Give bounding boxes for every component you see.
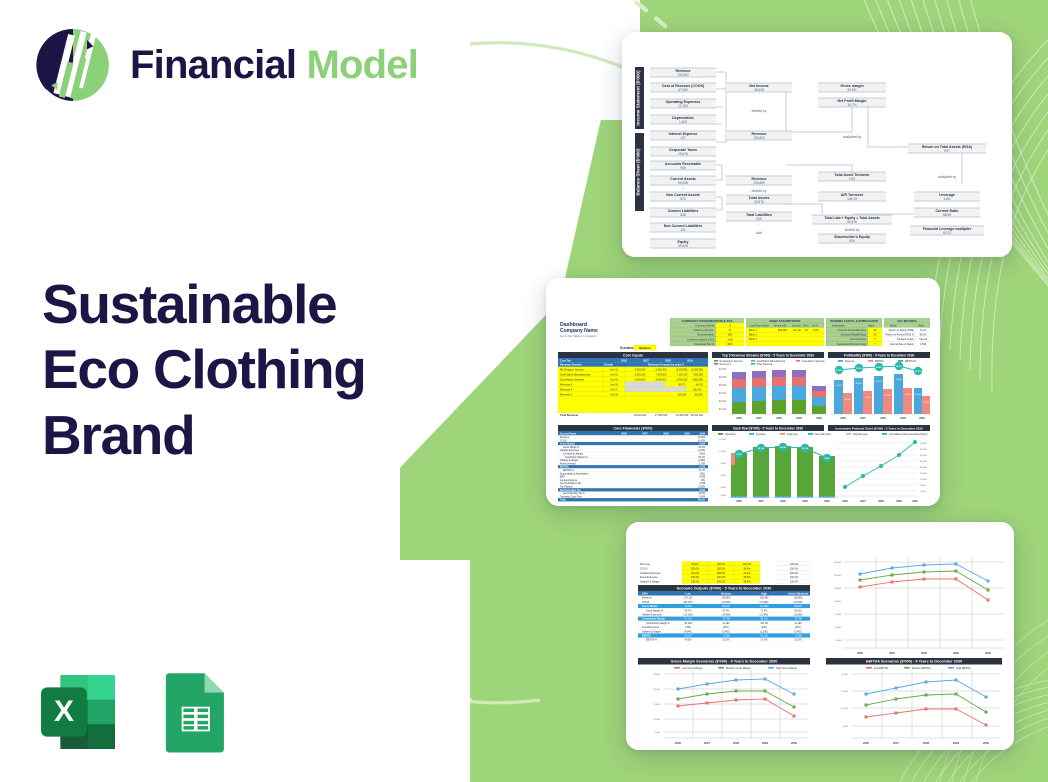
svg-text:(940): (940) [761,626,767,629]
svg-text:50,070: 50,070 [678,383,686,386]
svg-text:40,000: 40,000 [920,461,927,463]
svg-text:58.98: 58.98 [943,213,951,217]
scenario-screenshot: RevenueCOGSVariable Expenses Fixed Expen… [626,522,1014,750]
svg-text:Fixed Expenses: Fixed Expenses [642,626,660,629]
svg-text:50,576: 50,576 [847,220,857,224]
svg-text:3,944: 3,944 [699,489,705,492]
svg-text:(837): (837) [723,626,729,629]
svg-text:$1,000: $1,000 [719,409,727,411]
svg-text:2030: 2030 [985,651,991,655]
svg-text:Revenue 4: Revenue 4 [720,363,732,366]
svg-text:Growth: Growth [604,363,613,367]
svg-text:2028: 2028 [878,500,884,503]
svg-text:4,950,000: 4,950,000 [635,378,646,381]
svg-text:$6,000: $6,000 [719,377,727,379]
svg-text:Return on Assets (ROA) %: Return on Assets (ROA) % [886,334,915,337]
svg-text:100.0%: 100.0% [790,572,799,575]
svg-text:(3,400): (3,400) [722,630,730,633]
svg-text:100.0%: 100.0% [790,576,799,579]
svg-text:2030: 2030 [983,741,989,745]
svg-text:Sub 03: Sub 03 [610,378,618,381]
svg-text:Loan/Grant Name: Loan/Grant Name [749,324,769,327]
svg-text:2026: 2026 [857,651,863,655]
svg-text:105.0%: 105.0% [691,576,700,579]
svg-text:2029: 2029 [953,651,959,655]
svg-text:28,100,000: 28,100,000 [690,414,703,417]
svg-text:Unit 05: Unit 05 [610,383,618,386]
svg-text:25,000: 25,000 [653,674,660,676]
svg-text:-: - [683,109,684,113]
svg-text:5,408,100: 5,408,100 [677,378,688,381]
svg-text:$7,000: $7,000 [719,369,727,371]
svg-text:2027: 2027 [643,358,649,362]
svg-text:Active (Medium): Active (Medium) [788,591,808,595]
svg-text:156,800: 156,800 [794,597,803,600]
svg-text:2029: 2029 [687,358,693,362]
svg-text:48,191: 48,191 [698,499,706,502]
brand-wordmark: Financial Model [130,45,418,85]
svg-text:Corporate Tax %: Corporate Tax % [694,342,715,346]
svg-text:Metric: Metric [890,324,898,327]
svg-text:Operating: Operating [725,433,736,436]
svg-text:156,800: 156,800 [722,597,731,600]
svg-text:Item 01: Item 01 [610,368,619,371]
svg-text:4,000: 4,000 [721,487,727,489]
svg-text:Net Profit Before Tax: Net Profit Before Tax [560,482,582,485]
svg-text:30,000: 30,000 [834,575,841,577]
svg-text:Revenue Forecast by years 5: Revenue Forecast by years 5 [648,363,684,367]
svg-text:800: 800 [849,239,855,243]
microsoft-excel-icon[interactable]: X [34,668,122,756]
svg-text:Payback year: Payback year [853,433,868,436]
svg-text:2027: 2027 [893,741,899,745]
svg-text:Bank 1: Bank 1 [749,329,757,332]
svg-text:$3,000: $3,000 [719,393,727,395]
svg-text:Medium EBITDA: Medium EBITDA [912,667,931,670]
svg-text:1.8%: 1.8% [943,197,950,201]
svg-text:Gross Margin Scenarios ($'000): Gross Margin Scenarios ($'000) - 5 Years… [671,660,778,664]
svg-text:67,710: 67,710 [684,618,692,621]
svg-text:Scenario Outputs ($'000) - 5 Y: Scenario Outputs ($'000) - 5 Years to De… [677,586,772,590]
svg-text:75,708: 75,708 [722,618,730,621]
svg-text:8,900: 8,900 [824,458,830,460]
svg-text:100.0%: 100.0% [790,581,799,584]
svg-text:(47,800): (47,800) [722,601,731,604]
svg-text:EBITDA %: EBITDA % [646,639,658,642]
svg-text:2026: 2026 [842,500,848,503]
svg-text:95.0%: 95.0% [691,563,699,566]
svg-text:30,000: 30,000 [920,467,927,469]
svg-text:2026: 2026 [621,432,627,435]
svg-text:2027: 2027 [860,500,866,503]
svg-text:52.0%: 52.0% [795,639,803,642]
svg-text:10,000: 10,000 [841,708,848,710]
svg-text:(12,136): (12,136) [684,614,693,617]
svg-text:90,132: 90,132 [760,618,768,621]
svg-text:25,000: 25,000 [835,385,842,387]
svg-text:90.0%: 90.0% [743,572,751,575]
svg-text:20,000: 20,000 [915,394,922,396]
svg-text:Small Batch Manufacturing: Small Batch Manufacturing [560,373,590,376]
svg-text:91,130: 91,130 [760,635,768,638]
svg-text:Term: Term [803,324,809,327]
svg-text:multiplied by: multiplied by [938,175,957,179]
svg-text:22,300: 22,300 [780,447,787,449]
svg-text:2029: 2029 [953,741,959,745]
svg-text:18,700: 18,700 [758,448,765,450]
svg-text:multiplied by: multiplied by [843,135,862,139]
svg-text:Total Revenue: Total Revenue [560,413,579,417]
slide-canvas: Financial Model Sustainable Eco Clothing… [0,0,1048,782]
svg-text:-: - [683,78,684,82]
svg-text:Amount ($): Amount ($) [774,324,787,327]
svg-text:2026: 2026 [863,741,869,745]
svg-text:2027: 2027 [889,651,895,655]
svg-text:24,100: 24,100 [802,447,809,450]
svg-text:15,000: 15,000 [834,614,841,616]
svg-text:Variable Expenses: Variable Expenses [640,572,661,575]
svg-text:848: 848 [680,213,686,217]
svg-text:2030: 2030 [912,500,918,503]
svg-text:105.0%: 105.0% [691,567,700,570]
svg-text:(780): (780) [685,626,691,629]
google-sheets-icon[interactable] [150,668,238,756]
svg-text:Balance Sheet ($'000): Balance Sheet ($'000) [636,148,641,196]
svg-text:Interest Expense: Interest Expense [560,479,578,482]
svg-text:Unit 09: Unit 09 [610,393,618,396]
svg-text:7,083,000: 7,083,000 [656,373,667,376]
svg-text:40.2%: 40.2% [685,639,693,642]
svg-text:Assumption: Assumption [832,324,846,327]
svg-text:2027: 2027 [642,432,648,435]
svg-text:96.1%: 96.1% [920,334,928,337]
svg-text:Revenue: Revenue [845,360,855,363]
svg-text:17,000: 17,000 [884,395,891,397]
svg-text:55.0%: 55.0% [896,366,902,368]
svg-text:300,000: 300,000 [694,393,703,396]
svg-text:5,982,300: 5,982,300 [656,368,667,371]
svg-text:EBITDA Scenarios ($'000) - 5 Y: EBITDA Scenarios ($'000) - 5 Years to De… [866,660,962,664]
svg-text:48,196: 48,196 [684,622,692,625]
svg-text:Income Statement ($'000): Income Statement ($'000) [636,70,641,126]
financial-dashboard-card[interactable]: Dashboard Company Name Go to the Table o… [546,278,940,506]
svg-text:2027: 2027 [860,417,866,420]
svg-text:+: + [682,186,684,190]
svg-text:Low Gross Margin: Low Gross Margin [682,667,703,670]
svg-text:50,576: 50,576 [754,200,764,204]
svg-text:1,000: 1,000 [920,491,926,493]
svg-text:divided by: divided by [752,189,767,193]
svg-text:63.6%: 63.6% [847,88,856,92]
svg-text:Contribution Margin: Contribution Margin [642,618,665,621]
svg-text:127: 127 [680,136,686,140]
svg-text:10,000: 10,000 [653,719,660,721]
svg-text:18,000: 18,000 [904,394,911,396]
brand-word-model: Model [307,43,419,87]
svg-text:52.0%: 52.0% [836,370,842,372]
svg-text:divided by: divided by [845,228,860,232]
svg-text:Core Inputs: Core Inputs [623,353,643,357]
svg-text:100.0%: 100.0% [717,581,726,584]
svg-text:7,190,100: 7,190,100 [677,373,688,376]
svg-text:100.0%: 100.0% [790,567,799,570]
svg-text:Revenue 4: Revenue 4 [560,383,573,386]
svg-text:(4,840): (4,840) [684,630,692,633]
svg-text:Re-Designer Services: Re-Designer Services [560,368,585,371]
svg-text:Go to the Table of Contents: Go to the Table of Contents [560,334,597,338]
svg-text:2028: 2028 [780,500,786,503]
brand-logo[interactable]: Financial Model [34,26,418,104]
dashboard-screenshot: Dashboard Company Name Go to the Table o… [546,278,940,506]
svg-text:Denomination: Denomination [697,333,714,337]
svg-text:71,508: 71,508 [794,635,802,638]
svg-text:EBITDA %: EBITDA % [563,469,574,472]
svg-text:110.0%: 110.0% [743,563,752,566]
svg-text:88,600: 88,600 [794,605,802,608]
svg-text:17,800,000: 17,800,000 [655,414,668,417]
svg-text:2026: 2026 [840,417,846,420]
svg-text:Internal Rate of Return: Internal Rate of Return [890,343,915,346]
svg-text:Depreciation/Period (Years): Depreciation/Period (Years) [837,343,866,346]
svg-text:70,000: 70,000 [920,443,927,445]
svg-text:Return on Equity (ROE): Return on Equity (ROE) [889,329,914,332]
svg-text:2030: 2030 [824,500,830,503]
svg-text:11,196: 11,196 [794,622,802,625]
svg-text:Bank 3: Bank 3 [749,338,757,341]
svg-text:101,98: 101,98 [760,622,768,625]
svg-text:Profitability ($'000) - 5 Year: Profitability ($'000) - 5 Years to Decem… [844,353,915,357]
svg-text:100.0%: 100.0% [717,563,726,566]
svg-text:Scenario: Scenario [620,346,634,350]
svg-text:6,000: 6,000 [721,475,727,477]
svg-text:Revenue Streams: Revenue Streams [560,363,582,367]
svg-text:Revenue 5: Revenue 5 [560,388,573,391]
svg-text:Value: Value [918,324,925,327]
svg-text:20,000: 20,000 [841,674,848,676]
svg-text:(837): (837) [795,626,801,629]
svg-text:Payback (years): Payback (years) [897,338,914,341]
svg-text:2028: 2028 [880,417,886,420]
svg-text:200,000: 200,000 [678,393,687,396]
svg-text:WORKING CAPITAL & DEPRECIATION: WORKING CAPITAL & DEPRECIATION [830,319,877,323]
svg-text:2026: 2026 [736,500,742,503]
svg-text:15,000: 15,000 [841,691,848,693]
svg-text:(13,860): (13,860) [794,614,803,617]
svg-text:High: High [761,591,767,595]
svg-text:72,816: 72,816 [684,605,692,608]
svg-text:KEY METRICS: KEY METRICS [897,319,916,323]
svg-text:570: 570 [680,197,686,201]
svg-text:2026: 2026 [621,358,627,362]
svg-text:12,000: 12,000 [719,439,726,441]
svg-text:$2,000: $2,000 [719,401,727,403]
svg-text:Currency Name: Currency Name [695,324,714,328]
svg-text:Year 03: Year 03 [919,338,928,341]
svg-text:(3,400): (3,400) [794,630,802,633]
svg-text:High Gross Margin: High Gross Margin [776,667,797,670]
svg-text:20,000: 20,000 [653,689,660,691]
svg-text:Financing: Financing [787,433,798,436]
svg-text:Revenue: Revenue [642,597,652,600]
svg-text:5,000: 5,000 [836,640,842,642]
svg-text:30,000: 30,000 [875,381,882,383]
svg-text:DEBT ASSUMPTIONS: DEBT ASSUMPTIONS [770,319,801,323]
svg-text:100.0%: 100.0% [717,576,726,579]
svg-text:50,006: 50,006 [678,181,688,185]
left-content-column: Financial Model Sustainable Eco Clothing… [0,0,470,782]
svg-text:Int %: Int % [812,324,818,327]
svg-text:Accounts Payable Days: Accounts Payable Days [841,334,867,337]
svg-text:Contribution Margin: Contribution Margin [563,453,584,456]
svg-text:Cumulative Cash Converted (Spe: Cumulative Cash Converted (Spent) [889,433,928,436]
svg-text:19,400,000: 19,400,000 [676,414,689,417]
svg-text:2026: 2026 [736,417,742,420]
svg-text:61.21: 61.21 [920,329,927,332]
svg-text:48,628: 48,628 [754,88,764,92]
svg-text:Net Profit After Tax: Net Profit After Tax [560,489,581,492]
svg-text:11,196: 11,196 [722,622,730,625]
svg-text:2028: 2028 [776,417,782,420]
svg-text:X: X [54,695,74,728]
svg-text:35.7%: 35.7% [847,103,856,107]
svg-text:000: 000 [728,333,733,337]
page-title: Sustainable Eco Clothing Brand [42,272,462,468]
svg-text:Income/Years: Income/Years [560,432,577,435]
svg-text:10,000: 10,000 [719,451,726,453]
svg-text:71,508: 71,508 [722,635,730,638]
svg-text:EBITDA: EBITDA [875,360,884,363]
svg-text:949: 949 [756,217,762,221]
svg-text:130,800: 130,800 [753,181,765,185]
svg-text:Top 5 Revenue Streams ($'000): Top 5 Revenue Streams ($'000) - 5 Years … [722,353,814,357]
svg-text:8,038,590: 8,038,590 [677,368,688,371]
svg-text:divided by: divided by [752,109,767,113]
svg-text:Value: Value [868,324,875,327]
svg-text:Revenue 6: Revenue 6 [560,393,573,396]
svg-text:-: - [683,141,684,145]
svg-text:52.0%: 52.0% [723,639,731,642]
svg-text:35,000: 35,000 [834,562,841,564]
svg-text:Total: Total [560,499,566,502]
svg-text:8,000: 8,000 [736,454,742,456]
svg-text:Medium: Medium [721,591,731,595]
svg-text:54,070: 54,070 [696,383,704,386]
svg-text:500,000: 500,000 [778,329,788,332]
svg-text:5,800,000: 5,800,000 [692,378,703,381]
svg-text:88,600: 88,600 [722,605,730,608]
svg-text:Currency version 2 US: Currency version 2 US [687,337,714,341]
svg-text:Cost Tab: Cost Tab [560,358,571,362]
svg-text:Gross Margin: Gross Margin [642,605,658,608]
headline-line-2: Eco Clothing [42,337,462,402]
svg-text:51.0%: 51.0% [915,371,921,373]
svg-text:59.7%: 59.7% [685,609,693,612]
svg-text:Unit 01: Unit 01 [610,373,618,376]
svg-text:98.0%: 98.0% [743,581,751,584]
svg-text:5,000: 5,000 [920,485,926,487]
svg-text:CURRENCY DENOMINATION & TAX: CURRENCY DENOMINATION & TAX [682,319,733,323]
svg-text:Add: Add [755,231,762,235]
svg-text:15,000: 15,000 [864,397,871,399]
svg-text:Medium Gross Margin: Medium Gross Margin [726,667,751,670]
svg-text:Cash flow ($'000) - 5 Years to: Cash flow ($'000) - 5 Years to December … [733,426,804,430]
svg-text:(13,560): (13,560) [722,614,731,617]
headline-line-1: Sustainable [42,272,462,337]
svg-text:63.22: 63.22 [943,231,951,235]
svg-text:-: - [683,125,684,129]
svg-text:Salaries & Wages: Salaries & Wages [560,459,579,462]
svg-text:2027: 2027 [756,417,762,420]
svg-text:2026: 2026 [675,741,681,745]
svg-text:156,480: 156,480 [760,597,769,600]
svg-text:0.97: 0.97 [944,149,950,153]
svg-text:2028: 2028 [921,651,927,655]
svg-text:Salaries & Wages: Salaries & Wages [642,630,662,633]
svg-text:Variable Expenses: Variable Expenses [642,614,663,617]
svg-text:2030: 2030 [699,432,705,435]
headline-line-3: Brand [42,403,462,468]
svg-text:2029: 2029 [896,500,902,503]
svg-text:130,800: 130,800 [677,73,689,77]
svg-text:2.59: 2.59 [849,177,855,181]
svg-text:1.00: 1.00 [727,337,733,341]
dupont-analysis-card[interactable]: Income Statement ($'000) Balance Sheet (… [622,32,1012,257]
svg-text:2030: 2030 [816,417,822,420]
svg-text:2027: 2027 [758,500,764,503]
svg-text:2028: 2028 [733,741,739,745]
svg-text:Jan-26: Jan-26 [793,329,801,332]
svg-text:Operating Cash Flow: Operating Cash Flow [560,495,582,498]
brand-word-financial: Financial [130,43,296,87]
svg-text:105.0%: 105.0% [691,581,700,584]
svg-text:2029: 2029 [762,741,768,745]
scenario-analysis-card[interactable]: RevenueCOGSVariable Expenses Fixed Expen… [626,522,1014,750]
svg-text:(47,800): (47,800) [794,601,803,604]
svg-text:Depreciation & Amortisation: Depreciation & Amortisation [560,472,589,475]
svg-text:4,452,000: 4,452,000 [635,368,646,371]
file-format-badges: X [34,668,238,756]
svg-text:100.0%: 100.0% [790,563,799,566]
svg-text:948: 948 [680,166,686,170]
svg-text:6.0%: 6.0% [813,329,819,332]
svg-text:32,000: 32,000 [895,379,902,381]
svg-text:98.0%: 98.0% [743,567,751,570]
svg-text:Net Profit after Tax %: Net Profit after Tax % [563,492,585,495]
svg-text:Consultancy Services: Consultancy Services [802,360,826,363]
svg-text:Contribution Margin %: Contribution Margin % [646,622,671,625]
svg-text:5,352,000: 5,352,000 [635,373,646,376]
svg-text:110.0%: 110.0% [691,572,700,575]
svg-text:2028: 2028 [663,432,669,435]
svg-text:5,000: 5,000 [655,732,661,734]
svg-text:Gross Margin %: Gross Margin % [563,446,579,449]
svg-text:52,007: 52,007 [684,635,692,638]
svg-text:KPIs: KPIs [642,591,648,595]
svg-text:(47,990): (47,990) [760,601,769,604]
svg-text:2030: 2030 [919,417,925,420]
svg-text:2029: 2029 [802,500,808,503]
svg-text:2,000: 2,000 [721,495,727,497]
svg-text:28,000: 28,000 [855,383,862,385]
svg-text:49,628: 49,628 [678,244,688,248]
svg-text:Other Revenue: Other Revenue [757,363,774,366]
svg-text:Salaries & Wages: Salaries & Wages [640,581,661,584]
svg-text:2028: 2028 [923,741,929,745]
svg-text:15,000: 15,000 [653,704,660,706]
svg-text:107,580: 107,580 [760,605,769,608]
svg-text:EBITDA %: EBITDA % [905,360,917,363]
svg-text:Net Cash Flow: Net Cash Flow [815,433,831,436]
